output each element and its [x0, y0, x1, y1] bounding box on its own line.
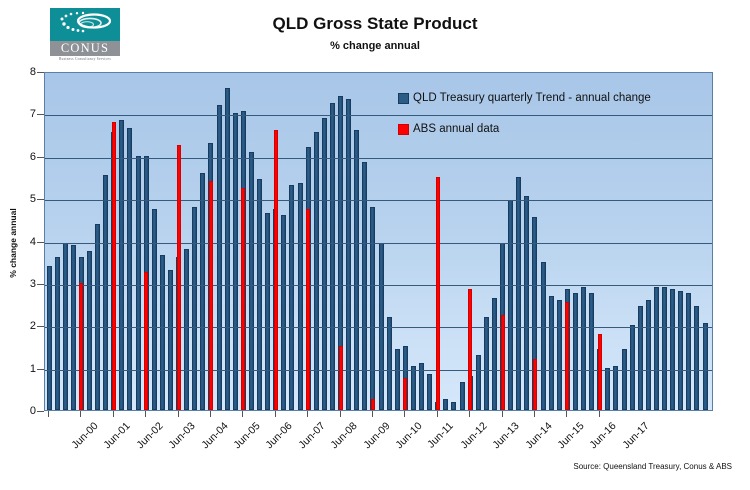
quarterly-bar — [678, 291, 683, 410]
quarterly-bar — [508, 200, 513, 410]
legend-swatch-icon — [398, 124, 409, 135]
quarterly-bar — [524, 196, 529, 410]
annual-bar — [177, 145, 181, 410]
gridline — [45, 158, 712, 159]
quarterly-bar — [330, 103, 335, 410]
chart-title: QLD Gross State Product — [0, 14, 750, 34]
quarterly-bar — [395, 349, 400, 410]
x-tick-label: Jun-08 — [329, 420, 360, 451]
quarterly-bar — [103, 175, 108, 410]
quarterly-bar — [249, 152, 254, 410]
quarterly-bar — [613, 366, 618, 410]
x-tick-label: Jun-05 — [231, 420, 262, 451]
quarterly-bar — [127, 128, 132, 410]
quarterly-bar — [557, 300, 562, 410]
y-tick-label: 7 — [6, 108, 36, 120]
x-tick-label: Jun-11 — [426, 420, 457, 451]
quarterly-bar — [322, 118, 327, 410]
annual-bar — [274, 130, 278, 410]
annual-bar — [144, 272, 148, 410]
annual-bar — [339, 346, 343, 410]
annual-bar — [598, 334, 602, 410]
chart-subtitle: % change annual — [0, 40, 750, 52]
annual-bar — [79, 283, 83, 410]
x-tick-label: Jun-02 — [134, 420, 165, 451]
x-tick-mark — [340, 411, 341, 417]
x-tick-mark — [242, 411, 243, 417]
quarterly-bar — [184, 249, 189, 410]
x-tick-mark — [145, 411, 146, 417]
quarterly-bar — [589, 293, 594, 410]
quarterly-bar — [281, 215, 286, 410]
quarterly-bar — [136, 156, 141, 410]
y-tick-mark — [37, 326, 44, 327]
x-tick-mark — [534, 411, 535, 417]
x-tick-label: Jun-10 — [393, 420, 424, 451]
y-tick-mark — [37, 242, 44, 243]
y-tick-mark — [37, 411, 44, 412]
quarterly-bar — [573, 293, 578, 410]
quarterly-bar — [451, 402, 456, 410]
x-tick-label: Jun-16 — [588, 420, 619, 451]
quarterly-bar — [686, 293, 691, 410]
legend-item-abs-annual: ABS annual data — [398, 123, 651, 135]
quarterly-bar — [225, 88, 230, 410]
annual-bar — [436, 177, 440, 410]
quarterly-bar — [662, 287, 667, 410]
quarterly-bar — [314, 132, 319, 410]
quarterly-bar — [703, 323, 708, 410]
y-tick-mark — [37, 72, 44, 73]
annual-bar — [501, 315, 505, 410]
x-tick-label: Jun-15 — [555, 420, 586, 451]
x-tick-mark — [437, 411, 438, 417]
quarterly-bar — [622, 349, 627, 410]
quarterly-bar — [654, 287, 659, 410]
legend-label: ABS annual data — [413, 123, 499, 135]
quarterly-bar — [630, 325, 635, 410]
quarterly-bar — [516, 177, 521, 410]
legend-label: QLD Treasury quarterly Trend - annual ch… — [413, 92, 651, 104]
quarterly-bar — [427, 374, 432, 410]
x-tick-label: Jun-14 — [523, 420, 554, 451]
x-tick-mark — [48, 411, 49, 417]
y-tick-mark — [37, 157, 44, 158]
quarterly-bar — [370, 207, 375, 410]
quarterly-bar — [549, 296, 554, 410]
y-tick-mark — [37, 369, 44, 370]
chart-legend: QLD Treasury quarterly Trend - annual ch… — [398, 92, 651, 154]
x-tick-mark — [372, 411, 373, 417]
y-axis: % change annual 012345678 — [0, 0, 44, 490]
y-tick-label: 8 — [6, 66, 36, 78]
legend-item-quarterly-trend: QLD Treasury quarterly Trend - annual ch… — [398, 92, 651, 104]
annual-bar — [209, 181, 213, 410]
quarterly-bar — [387, 317, 392, 410]
x-tick-mark — [599, 411, 600, 417]
annual-bar — [241, 188, 245, 410]
annual-bar — [371, 399, 375, 410]
annual-bar — [565, 302, 569, 410]
quarterly-bar — [492, 298, 497, 410]
quarterly-bar — [160, 255, 165, 410]
y-tick-mark — [37, 114, 44, 115]
quarterly-bar — [646, 300, 651, 410]
x-tick-label: Jun-07 — [296, 420, 327, 451]
y-tick-label: 0 — [6, 405, 36, 417]
x-tick-label: Jun-01 — [102, 420, 133, 451]
x-tick-label: Jun-04 — [199, 420, 230, 451]
x-tick-mark — [80, 411, 81, 417]
x-tick-label: Jun-13 — [491, 420, 522, 451]
quarterly-bar — [298, 183, 303, 410]
quarterly-bar — [638, 306, 643, 410]
quarterly-bar — [605, 368, 610, 410]
x-tick-mark — [113, 411, 114, 417]
quarterly-bar — [152, 209, 157, 410]
x-tick-label: Jun-09 — [361, 420, 392, 451]
quarterly-bar — [217, 105, 222, 410]
annual-bar — [468, 289, 472, 410]
quarterly-bar — [87, 251, 92, 410]
x-tick-label: Jun-17 — [620, 420, 651, 451]
annual-bar — [112, 122, 116, 410]
quarterly-bar — [47, 266, 52, 410]
x-tick-mark — [210, 411, 211, 417]
annual-bar — [403, 378, 407, 410]
quarterly-bar — [192, 207, 197, 410]
y-tick-label: 2 — [6, 320, 36, 332]
y-tick-label: 6 — [6, 151, 36, 163]
x-tick-mark — [404, 411, 405, 417]
y-tick-label: 3 — [6, 278, 36, 290]
quarterly-bar — [95, 224, 100, 410]
quarterly-bar — [694, 306, 699, 410]
y-tick-label: 1 — [6, 363, 36, 375]
x-tick-mark — [566, 411, 567, 417]
x-tick-mark — [275, 411, 276, 417]
quarterly-bar — [257, 179, 262, 410]
y-tick-label: 5 — [6, 193, 36, 205]
annual-bar — [533, 359, 537, 410]
x-tick-mark — [469, 411, 470, 417]
x-tick-label: Jun-06 — [264, 420, 295, 451]
y-tick-mark — [37, 199, 44, 200]
source-note: Source: Queensland Treasury, Conus & ABS — [573, 462, 732, 471]
gridline — [45, 243, 712, 244]
x-tick-label: Jun-12 — [458, 420, 489, 451]
conus-tagline: Business Consultancy Services — [50, 57, 120, 61]
annual-bar — [306, 209, 310, 410]
quarterly-bar — [346, 99, 351, 410]
quarterly-bar — [168, 270, 173, 410]
x-tick-mark — [307, 411, 308, 417]
quarterly-bar — [354, 130, 359, 410]
x-tick-label: Jun-03 — [167, 420, 198, 451]
quarterly-bar — [200, 173, 205, 410]
quarterly-bar — [484, 317, 489, 410]
quarterly-bar — [289, 185, 294, 410]
quarterly-bar — [55, 257, 60, 410]
x-tick-label: Jun-00 — [69, 420, 100, 451]
x-tick-mark — [502, 411, 503, 417]
quarterly-bar — [443, 399, 448, 410]
quarterly-bar — [411, 366, 416, 410]
quarterly-bar — [119, 120, 124, 410]
quarterly-bar — [581, 287, 586, 410]
quarterly-bar — [476, 355, 481, 410]
x-tick-mark — [178, 411, 179, 417]
quarterly-bar — [670, 289, 675, 410]
legend-swatch-icon — [398, 93, 409, 104]
quarterly-bar — [460, 382, 465, 410]
y-tick-mark — [37, 284, 44, 285]
gridline — [45, 200, 712, 201]
y-tick-label: 4 — [6, 236, 36, 248]
